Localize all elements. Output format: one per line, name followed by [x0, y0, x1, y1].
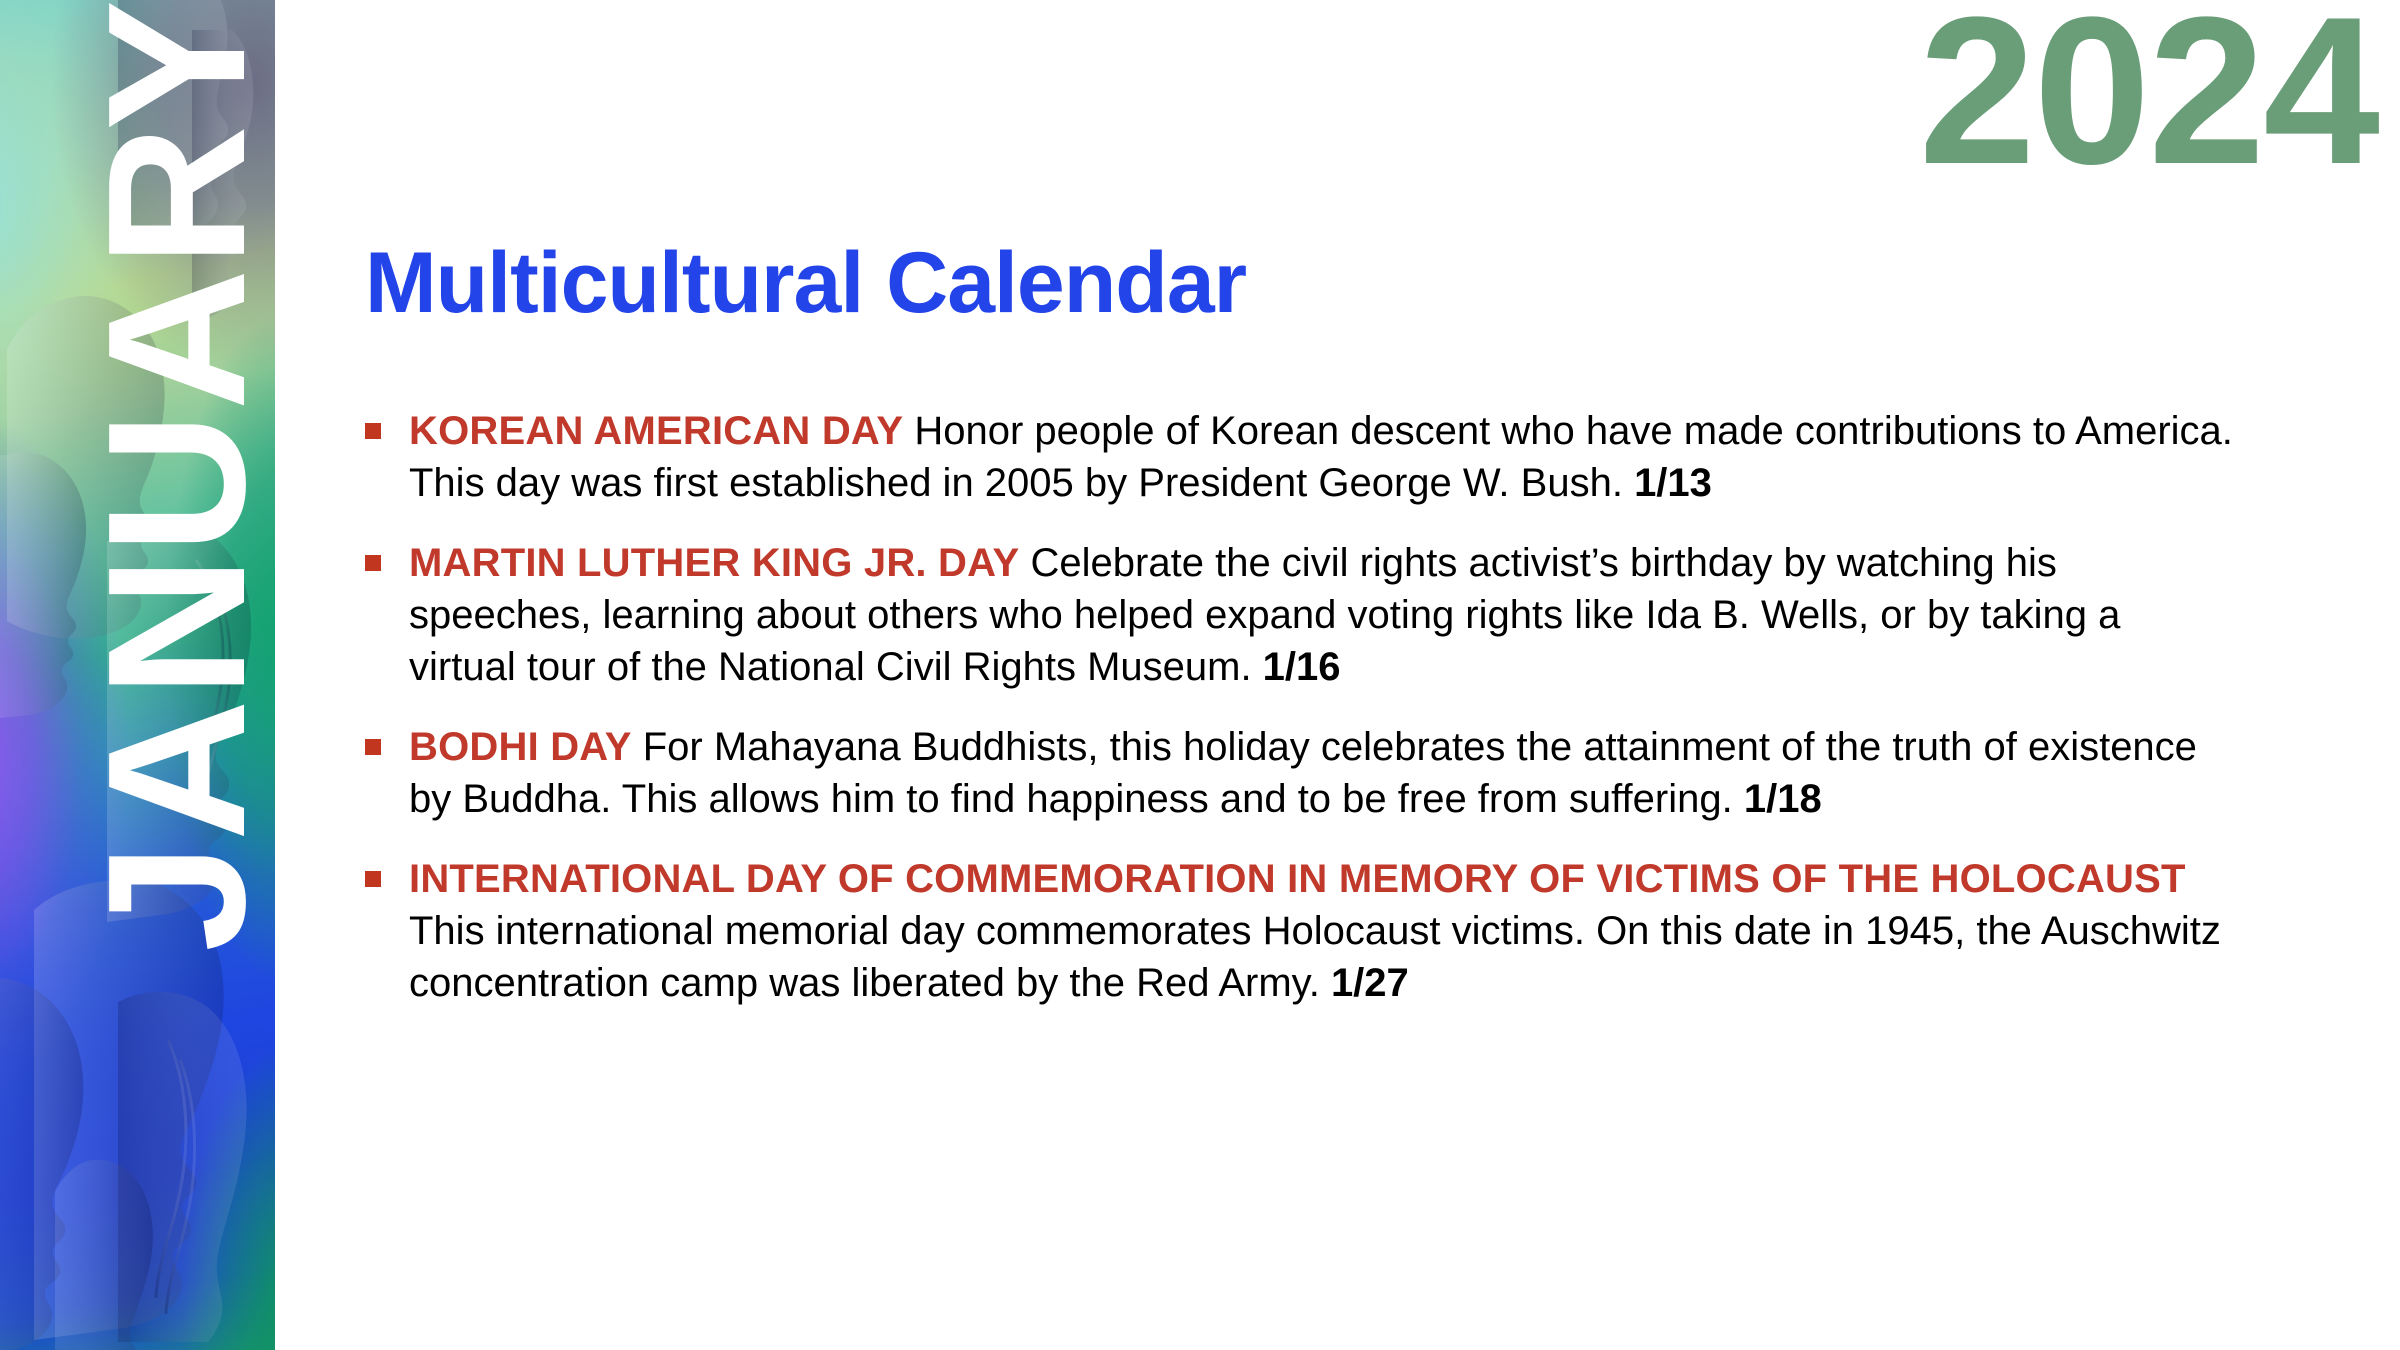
holiday-date: 1/27	[1331, 961, 1409, 1005]
bullet-square-icon	[365, 423, 381, 439]
month-sidebar: JANUARY	[0, 0, 275, 1350]
holiday-date: 1/18	[1744, 777, 1822, 821]
holiday-name: MARTIN LUTHER KING JR. DAY	[409, 541, 1019, 585]
list-item-body: MARTIN LUTHER KING JR. DAY Celebrate the…	[409, 537, 2235, 693]
bullet-square-icon	[365, 739, 381, 755]
bullet-square-icon	[365, 555, 381, 571]
page-title: Multicultural Calendar	[365, 240, 1246, 326]
list-item: INTERNATIONAL DAY OF COMMEMORATION IN ME…	[365, 853, 2235, 1009]
holiday-date: 1/16	[1263, 645, 1341, 689]
holiday-description: For Mahayana Buddhists, this holiday cel…	[409, 725, 2197, 821]
list-item: BODHI DAY For Mahayana Buddhists, this h…	[365, 721, 2235, 825]
calendar-content: 2024 Multicultural Calendar KOREAN AMERI…	[275, 0, 2400, 1350]
holiday-name: INTERNATIONAL DAY OF COMMEMORATION IN ME…	[409, 857, 2186, 901]
list-item: MARTIN LUTHER KING JR. DAY Celebrate the…	[365, 537, 2235, 693]
list-item: KOREAN AMERICAN DAY Honor people of Kore…	[365, 405, 2235, 509]
year-heading: 2024	[1919, 0, 2378, 196]
holiday-name: BODHI DAY	[409, 725, 632, 769]
holiday-description: This international memorial day commemor…	[409, 909, 2221, 1005]
holiday-name: KOREAN AMERICAN DAY	[409, 409, 903, 453]
month-label-vertical: JANUARY	[0, 0, 275, 1350]
holiday-date: 1/13	[1634, 461, 1712, 505]
list-item-body: KOREAN AMERICAN DAY Honor people of Kore…	[409, 405, 2235, 509]
holiday-list: KOREAN AMERICAN DAY Honor people of Kore…	[365, 405, 2235, 1037]
month-label-text: JANUARY	[81, 0, 275, 1350]
list-item-body: INTERNATIONAL DAY OF COMMEMORATION IN ME…	[409, 853, 2235, 1009]
bullet-square-icon	[365, 871, 381, 887]
list-item-body: BODHI DAY For Mahayana Buddhists, this h…	[409, 721, 2235, 825]
